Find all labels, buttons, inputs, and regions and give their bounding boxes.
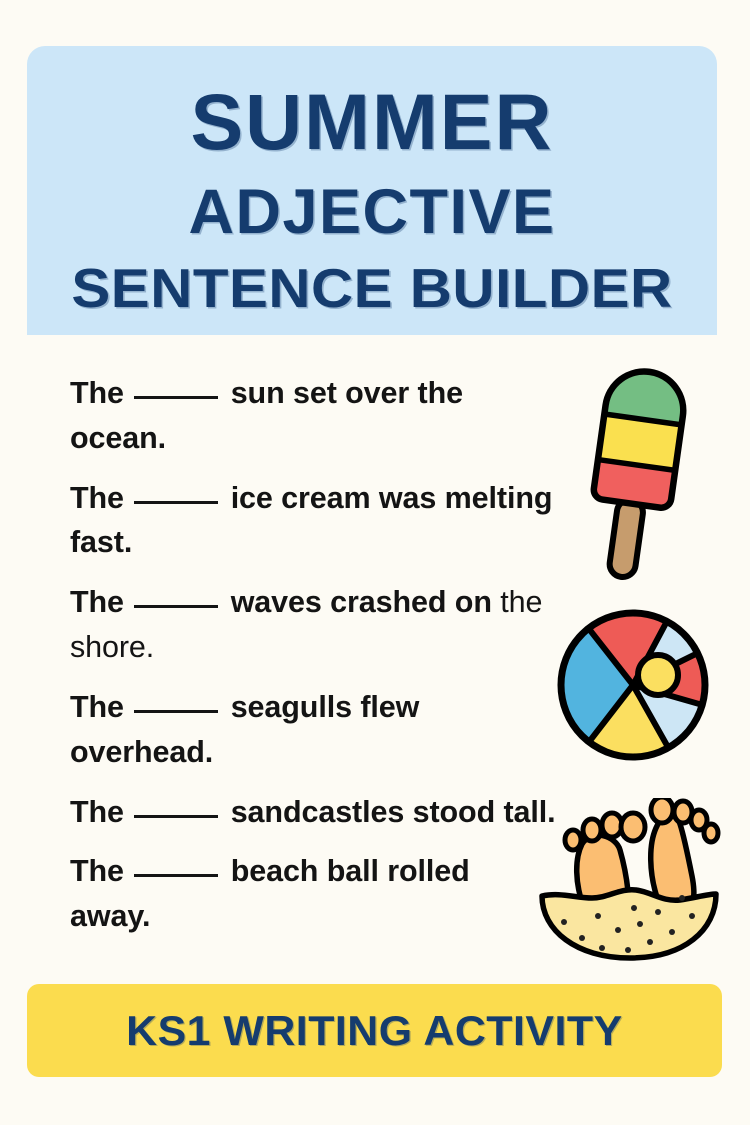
- blank-line-4[interactable]: [134, 710, 218, 713]
- sentence-prefix: The: [70, 690, 124, 724]
- header-banner: SUMMER ADJECTIVE SENTENCE BUILDER: [27, 46, 717, 335]
- feet-in-sand-icon: [536, 798, 722, 963]
- sentence-rest-bold: waves crashed on: [231, 585, 492, 619]
- footer-label: KS1 WRITING ACTIVITY: [126, 1007, 623, 1055]
- sentence-item-4: The seagulls flew overhead.: [70, 685, 558, 775]
- poster-canvas: SUMMER ADJECTIVE SENTENCE BUILDER The su…: [0, 0, 750, 1125]
- sentence-rest: sandcastles stood tall.: [231, 795, 556, 829]
- sentence-item-5: The sandcastles stood tall.: [70, 790, 558, 835]
- sentence-item-2: The ice cream was melting fast.: [70, 476, 558, 566]
- footer-banner: KS1 WRITING ACTIVITY: [27, 984, 722, 1077]
- poster-title-line-1: SUMMER: [27, 82, 717, 161]
- popsicle-icon: [572, 352, 702, 587]
- poster-title-line-3: SENTENCE BUILDER: [6, 261, 737, 316]
- blank-line-1[interactable]: [134, 396, 218, 399]
- sentence-item-6: The beach ball rolled away.: [70, 849, 558, 939]
- sentence-prefix: The: [70, 376, 124, 410]
- blank-line-3[interactable]: [134, 605, 218, 608]
- sentence-prefix: The: [70, 585, 124, 619]
- sentence-rest: ice cream was melting fast.: [70, 481, 552, 560]
- beach-ball-icon: [552, 604, 714, 766]
- sentence-rest: sun set over the ocean.: [70, 376, 463, 455]
- blank-line-2[interactable]: [134, 501, 218, 504]
- blank-line-6[interactable]: [134, 874, 218, 877]
- sentence-prefix: The: [70, 854, 124, 888]
- sentence-prefix: The: [70, 481, 124, 515]
- sentence-item-3: The waves crashed on the shore.: [70, 580, 558, 670]
- sentence-rest: beach ball rolled away.: [70, 854, 470, 933]
- blank-line-5[interactable]: [134, 815, 218, 818]
- sentence-item-1: The sun set over the ocean.: [70, 371, 558, 461]
- poster-title-line-2: ADJECTIVE: [27, 181, 717, 244]
- sentence-prefix: The: [70, 795, 124, 829]
- sentence-list: The sun set over the ocean. The ice crea…: [70, 371, 558, 954]
